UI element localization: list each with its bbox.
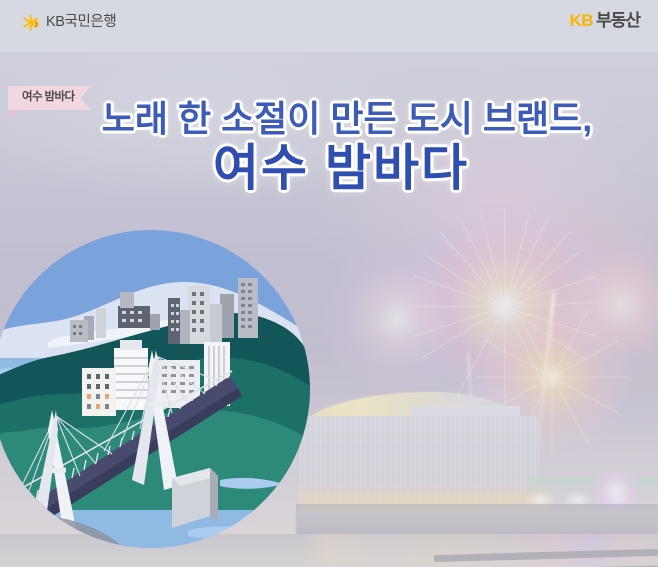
kb-realestate-label: 부동산 xyxy=(596,12,640,29)
yeosu-illustration xyxy=(0,230,310,548)
promo-card: KB국민은행 KB 부동산 여수 밤바다 노래 한 소절이 만든 도시 브랜드,… xyxy=(0,0,658,567)
kb-bank-logo[interactable]: KB국민은행 xyxy=(22,13,116,32)
kb-realestate-logo[interactable]: KB 부동산 xyxy=(570,12,640,29)
kb-star-icon xyxy=(22,13,41,32)
illustration-circle-clip xyxy=(0,230,310,548)
ribbon-tag: 여수 밤바다 xyxy=(8,86,91,110)
header-bar: KB국민은행 KB 부동산 xyxy=(0,0,658,52)
ribbon-label: 여수 밤바다 xyxy=(22,92,75,104)
seawall xyxy=(296,514,658,536)
kb-bank-label: KB국민은행 xyxy=(46,15,116,30)
kb-mark-label: KB xyxy=(570,12,594,29)
illustration-svg xyxy=(0,230,310,548)
